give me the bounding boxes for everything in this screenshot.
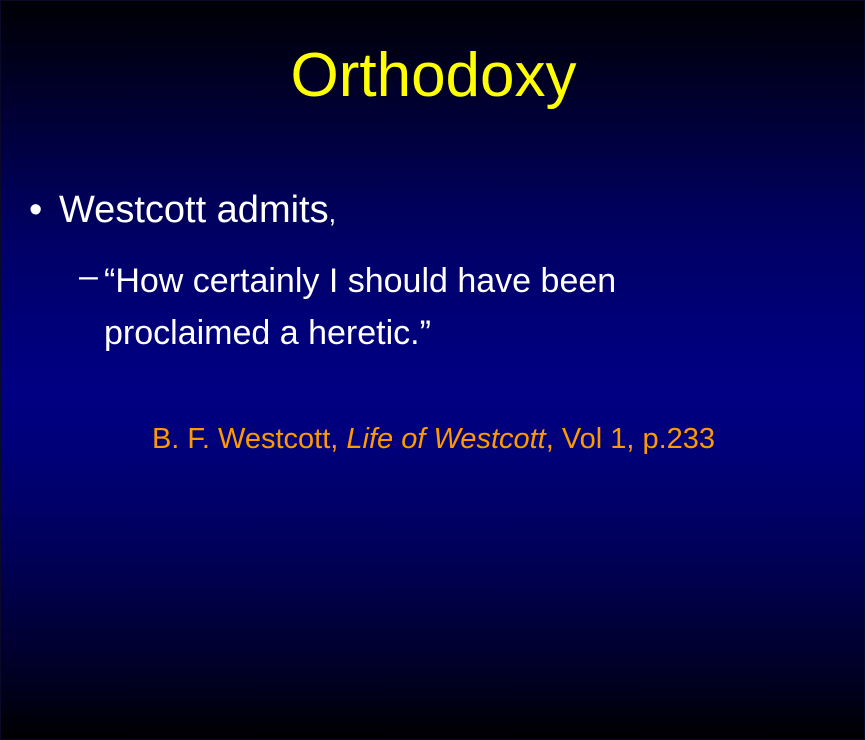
bullet-item: • Westcott admits, [29,187,839,236]
quote-line-1: “How certainly I should have been [104,262,616,300]
slide-title: Orthodoxy [1,45,865,107]
bullet-marker-icon: • [29,187,59,233]
bullet-text: Westcott admits, [59,187,336,236]
bullet-text-main: Westcott admits [59,189,329,231]
presentation-slide: Orthodoxy • Westcott admits, – “How cert… [0,0,865,740]
citation-reference: , Vol 1, p.233 [546,423,715,455]
citation-author: B. F. Westcott, [152,423,346,455]
citation-line: B. F. Westcott, Life of Westcott, Vol 1,… [1,421,865,457]
sub-bullet-dash-icon: – [79,255,104,298]
quote-line-2: proclaimed a heretic.” [104,314,431,352]
sub-bullet-item: – “How certainly I should have beenprocl… [79,255,839,359]
bullet-text-punctuation: , [329,198,337,228]
citation-work-title: Life of Westcott [346,423,545,455]
quote-text: “How certainly I should have beenproclai… [104,255,714,359]
slide-body: • Westcott admits, – “How certainly I sh… [29,187,839,359]
